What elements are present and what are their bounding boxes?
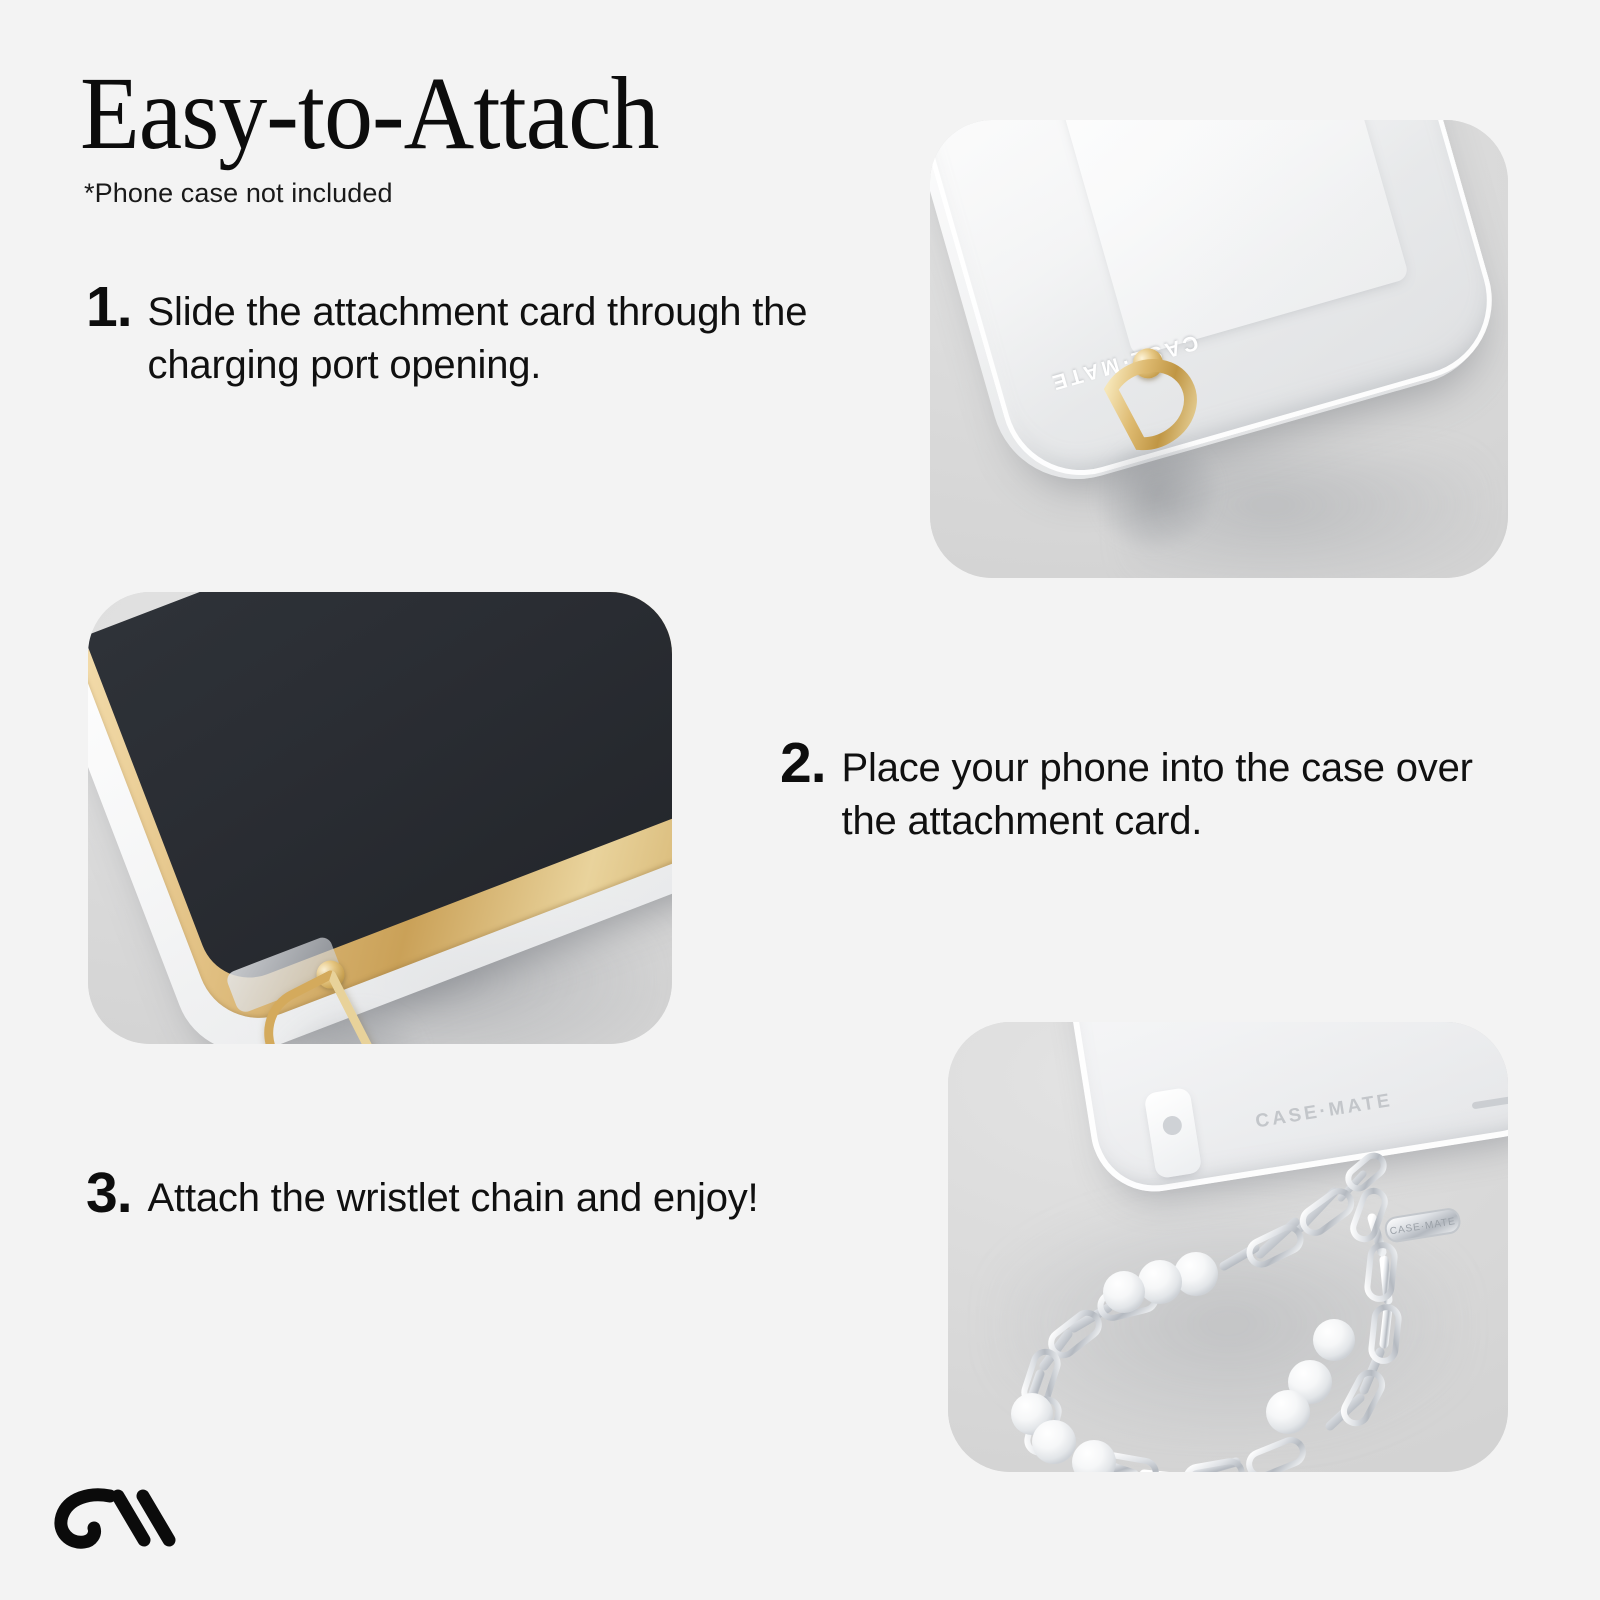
case-mate-logo bbox=[48, 1468, 176, 1560]
step-3: 3. Attach the wristlet chain and enjoy! bbox=[86, 1172, 786, 1226]
product-photo-step-1: CASE·MATE bbox=[930, 120, 1508, 578]
step-3-number: 3. bbox=[86, 1166, 132, 1220]
product-photo-step-3: CASE·MATE bbox=[948, 1022, 1508, 1472]
pearl-wristlet-chain-icon: CASE·MATE bbox=[948, 1022, 1508, 1472]
step-3-text: Attach the wristlet chain and enjoy! bbox=[148, 1172, 759, 1225]
step-1-number: 1. bbox=[86, 280, 132, 334]
step-1-text: Slide the attachment card through the ch… bbox=[148, 286, 916, 392]
disclaimer-text: *Phone case not included bbox=[84, 178, 393, 209]
instruction-graphic: Easy-to-Attach *Phone case not included … bbox=[0, 0, 1600, 1600]
chain-clasp-icon bbox=[1344, 1151, 1387, 1192]
phone-in-case-illustration bbox=[88, 592, 672, 1044]
step-2-text: Place your phone into the case over the … bbox=[842, 742, 1520, 848]
step-2: 2. Place your phone into the case over t… bbox=[780, 742, 1520, 848]
chain-brand-tag-icon: CASE·MATE bbox=[1384, 1208, 1461, 1243]
page-title: Easy-to-Attach bbox=[80, 62, 659, 166]
product-photo-step-2 bbox=[88, 592, 672, 1044]
step-2-number: 2. bbox=[780, 736, 826, 790]
step-1: 1. Slide the attachment card through the… bbox=[86, 286, 916, 392]
